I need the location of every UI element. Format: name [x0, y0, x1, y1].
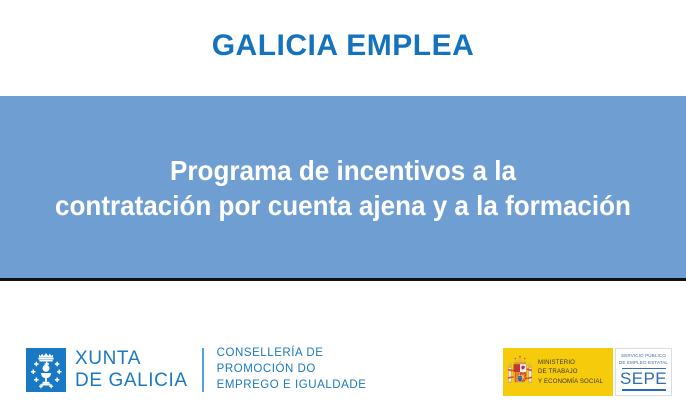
footer-logo-band: XUNTA DE GALICIA CONSELLERÍA DE PROMOCIÓ…: [0, 284, 686, 410]
logo-divider: [202, 348, 204, 392]
conselleria-line-3: EMPREGO E IGUALDADE: [217, 378, 367, 394]
conselleria-line-2: PROMOCIÓN DO: [217, 362, 367, 378]
banner-text-block: Programa de incentivos a la contratación…: [45, 154, 640, 223]
xunta-name-line-1: XUNTA: [75, 348, 188, 370]
spain-coat-of-arms-icon: [507, 355, 533, 389]
conselleria-line-1: CONSELLERÍA DE: [217, 346, 367, 362]
sepe-rule-bottom: [622, 389, 666, 391]
ministerio-line-2: DE TRABAJO: [538, 367, 603, 376]
conselleria-wordmark: CONSELLERÍA DE PROMOCIÓN DO EMPREGO E IG…: [217, 346, 367, 394]
sepe-subtitle: SERVICIO PÚBLICO DE EMPLEO ESTATAL: [619, 353, 668, 366]
ministerio-line-1: MINISTERIO: [538, 358, 603, 367]
header-band: GALICIA EMPLEA: [0, 0, 686, 96]
galicia-coat-of-arms-icon: [26, 348, 66, 392]
ministerio-de-trabajo-logo: MINISTERIO DE TRABAJO Y ECONOMÍA SOCIAL: [503, 348, 613, 396]
banner-line-2: contratación por cuenta ajena y a la for…: [45, 189, 640, 224]
xunta-wordmark: XUNTA DE GALICIA: [75, 348, 188, 392]
sepe-subtitle-line-2: DE EMPLEO ESTATAL: [619, 360, 668, 367]
xunta-de-galicia-logo: XUNTA DE GALICIA CONSELLERÍA DE PROMOCIÓ…: [26, 346, 366, 394]
ministerio-wordmark: MINISTERIO DE TRABAJO Y ECONOMÍA SOCIAL: [538, 358, 603, 385]
ministerio-line-3: Y ECONOMÍA SOCIAL: [538, 377, 603, 386]
xunta-name-line-2: DE GALICIA: [75, 370, 188, 392]
sepe-subtitle-line-1: SERVICIO PÚBLICO: [619, 353, 668, 360]
page-title: GALICIA EMPLEA: [212, 31, 475, 61]
banner-line-1: Programa de incentivos a la: [45, 154, 640, 189]
program-banner: Programa de incentivos a la contratación…: [0, 96, 686, 281]
sepe-logo: SERVICIO PÚBLICO DE EMPLEO ESTATAL SEPE: [615, 348, 672, 396]
sepe-acronym: SEPE: [620, 370, 667, 387]
